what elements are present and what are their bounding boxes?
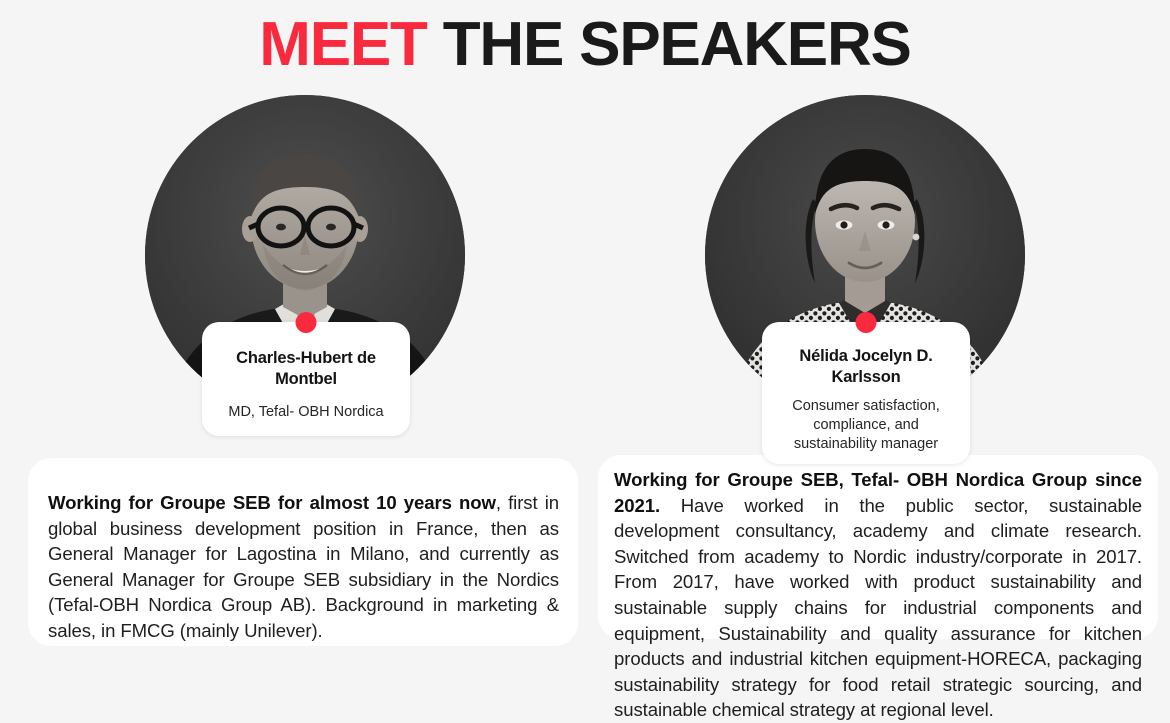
speaker-role-2: Consumer satisfaction, compliance, and s… [772, 397, 960, 454]
speaker-name-card-2: Nélida Jocelyn D. Karlsson Consumer sati… [762, 322, 970, 464]
accent-dot-icon [856, 312, 877, 333]
speaker-name-2: Nélida Jocelyn D. Karlsson [772, 346, 960, 388]
speaker-role-1: MD, Tefal- OBH Nordica [214, 403, 398, 422]
speaker-bio-2-text: Have worked in the public sector, sustai… [614, 495, 1142, 721]
slide-canvas: MEET THE SPEAKERS [0, 0, 1170, 658]
speaker-block-2: Nélida Jocelyn D. Karlsson Consumer sati… [705, 95, 1025, 440]
speaker-bio-card-1: Working for Groupe SEB for almost 10 yea… [28, 458, 578, 646]
speaker-bio-1-highlight: Working for Groupe SEB for almost 10 yea… [48, 492, 496, 513]
page-title-highlight: MEET [259, 10, 426, 79]
speaker-block-1: Charles-Hubert de Montbel MD, Tefal- OBH… [145, 95, 465, 440]
speaker-name-card-1: Charles-Hubert de Montbel MD, Tefal- OBH… [202, 322, 410, 436]
page-title-rest: THE SPEAKERS [427, 10, 911, 79]
page-title: MEET THE SPEAKERS [0, 8, 1170, 82]
accent-dot-icon [296, 312, 317, 333]
speaker-bio-card-2: Working for Groupe SEB, Tefal- OBH Nordi… [598, 455, 1158, 639]
speaker-name-1: Charles-Hubert de Montbel [214, 348, 398, 390]
speaker-bio-1-text: , first in global business development p… [48, 492, 559, 641]
